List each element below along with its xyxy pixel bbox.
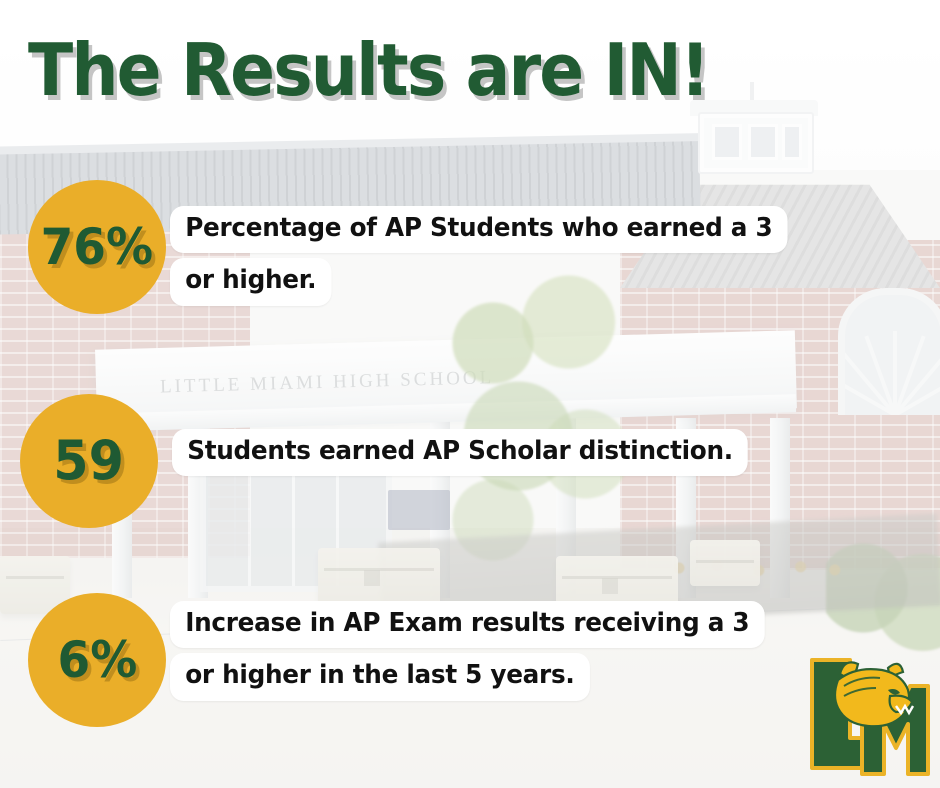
stat-row: 59 Students earned AP Scholar distinctio… xyxy=(0,392,940,532)
cupola-spire xyxy=(750,82,754,100)
stat-description: Students earned AP Scholar distinction. xyxy=(172,429,748,481)
stat-description-line: or higher. xyxy=(170,258,331,305)
stat-badge: 6% xyxy=(28,593,166,727)
stat-value: 59 xyxy=(54,434,125,488)
stat-description-line: or higher in the last 5 years. xyxy=(170,653,590,700)
cupola-window xyxy=(712,124,742,160)
page-title: The Results are IN! xyxy=(28,34,708,106)
lm-panther-icon xyxy=(804,650,932,780)
little-miami-panthers-logo xyxy=(804,650,932,780)
cupola-window xyxy=(748,124,778,160)
cupola xyxy=(690,96,818,178)
stat-row: 6% Increase in AP Exam results receiving… xyxy=(0,585,940,725)
stat-value: 6% xyxy=(57,635,137,685)
poster-graphic: LITTLE MIAMI HIGH SCHOOL The Results are… xyxy=(0,0,940,788)
stat-description-line: Students earned AP Scholar distinction. xyxy=(172,429,748,476)
stat-description: Percentage of AP Students who earned a 3… xyxy=(170,206,788,311)
bench xyxy=(690,540,760,586)
stat-description: Increase in AP Exam results receiving a … xyxy=(170,601,765,706)
stat-description-line: Increase in AP Exam results receiving a … xyxy=(170,601,765,648)
stat-badge: 76% xyxy=(28,180,166,314)
stat-description-line: Percentage of AP Students who earned a 3 xyxy=(170,206,788,253)
cupola-window xyxy=(782,124,802,160)
stat-row: 76% Percentage of AP Students who earned… xyxy=(0,180,940,320)
stat-badge: 59 xyxy=(20,394,158,528)
stat-value: 76% xyxy=(41,222,154,272)
